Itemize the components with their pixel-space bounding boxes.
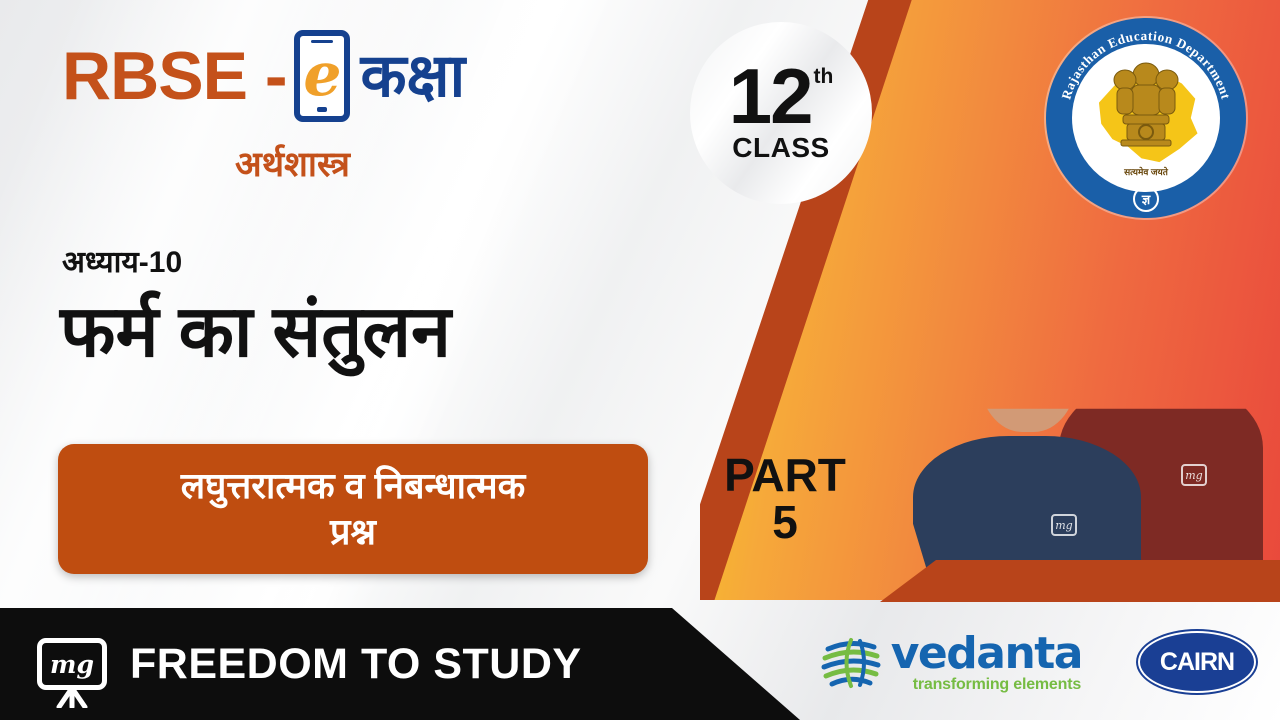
mg-logo-text: mg — [50, 652, 94, 677]
vedanta-globe-icon — [820, 631, 882, 693]
part-indicator: PART 5 — [690, 452, 880, 546]
subject-name: अर्थशास्त्र — [235, 140, 350, 187]
part-number: 5 — [690, 499, 880, 546]
smartphone-icon: e — [294, 30, 350, 122]
female-shirt-mg-logo: mg — [1051, 514, 1077, 536]
mg-easel-legs-icon — [49, 688, 95, 708]
cairn-name: CAIRN — [1160, 648, 1234, 677]
sponsor-logos: vedanta transforming elements CAIRN — [786, 612, 1256, 712]
class-number: 12 — [729, 62, 812, 131]
letter-e: e — [303, 45, 341, 105]
chapter-label: अध्याय-10 — [62, 240, 182, 281]
emblem-inner-disc: सत्यमेव जयते — [1072, 44, 1220, 192]
vedanta-text-block: vedanta transforming elements — [891, 632, 1082, 693]
question-type-line-1: लघुत्तरात्मक व निबन्धात्मक — [181, 463, 526, 509]
emblem-motto: सत्यमेव जयते — [1124, 165, 1168, 178]
vedanta-logo: vedanta transforming elements — [820, 631, 1082, 693]
mg-frame-icon: mg — [37, 638, 107, 690]
male-shirt-mg-logo: mg — [1181, 464, 1207, 486]
emblem-sub-badge: ज्ञ — [1133, 186, 1159, 212]
male-shirt-mg-text: mg — [1185, 469, 1202, 482]
brand-logo: RBSE - e कक्षा — [62, 30, 465, 122]
class-word: CLASS — [732, 132, 829, 164]
female-shirt — [913, 436, 1141, 572]
question-type-badge: लघुत्तरात्मक व निबन्धात्मक प्रश्न — [58, 444, 648, 574]
class-badge: 12 th CLASS — [690, 22, 872, 204]
rajasthan-education-department-emblem: Rajasthan Education Department — [1046, 18, 1246, 218]
rbse-wordmark: RBSE - — [62, 42, 286, 110]
question-type-line-2: प्रश्न — [181, 509, 526, 555]
cairn-logo: CAIRN — [1138, 631, 1256, 693]
class-number-row: 12 th — [729, 62, 834, 131]
footer-tagline: FREEDOM TO STUDY — [130, 640, 582, 689]
thumbnail-canvas: mg mg RBSE - e कक्षा — [0, 0, 1280, 720]
vedanta-tagline: transforming elements — [913, 677, 1082, 693]
page-title: फर्म का संतुलन — [60, 292, 451, 373]
mg-blackboard-logo: mg — [34, 632, 110, 696]
female-shirt-mg-text: mg — [1055, 519, 1072, 532]
kaksha-wordmark: कक्षा — [360, 46, 465, 106]
orange-bottom-band — [880, 560, 1280, 602]
class-ordinal-suffix: th — [813, 68, 833, 86]
question-type-text: लघुत्तरात्मक व निबन्धात्मक प्रश्न — [159, 463, 548, 555]
vedanta-name: vedanta — [891, 632, 1082, 676]
part-word: PART — [690, 452, 880, 499]
footer-bar: mg FREEDOM TO STUDY — [0, 608, 800, 720]
ashoka-lion-capital-icon — [1103, 58, 1189, 167]
